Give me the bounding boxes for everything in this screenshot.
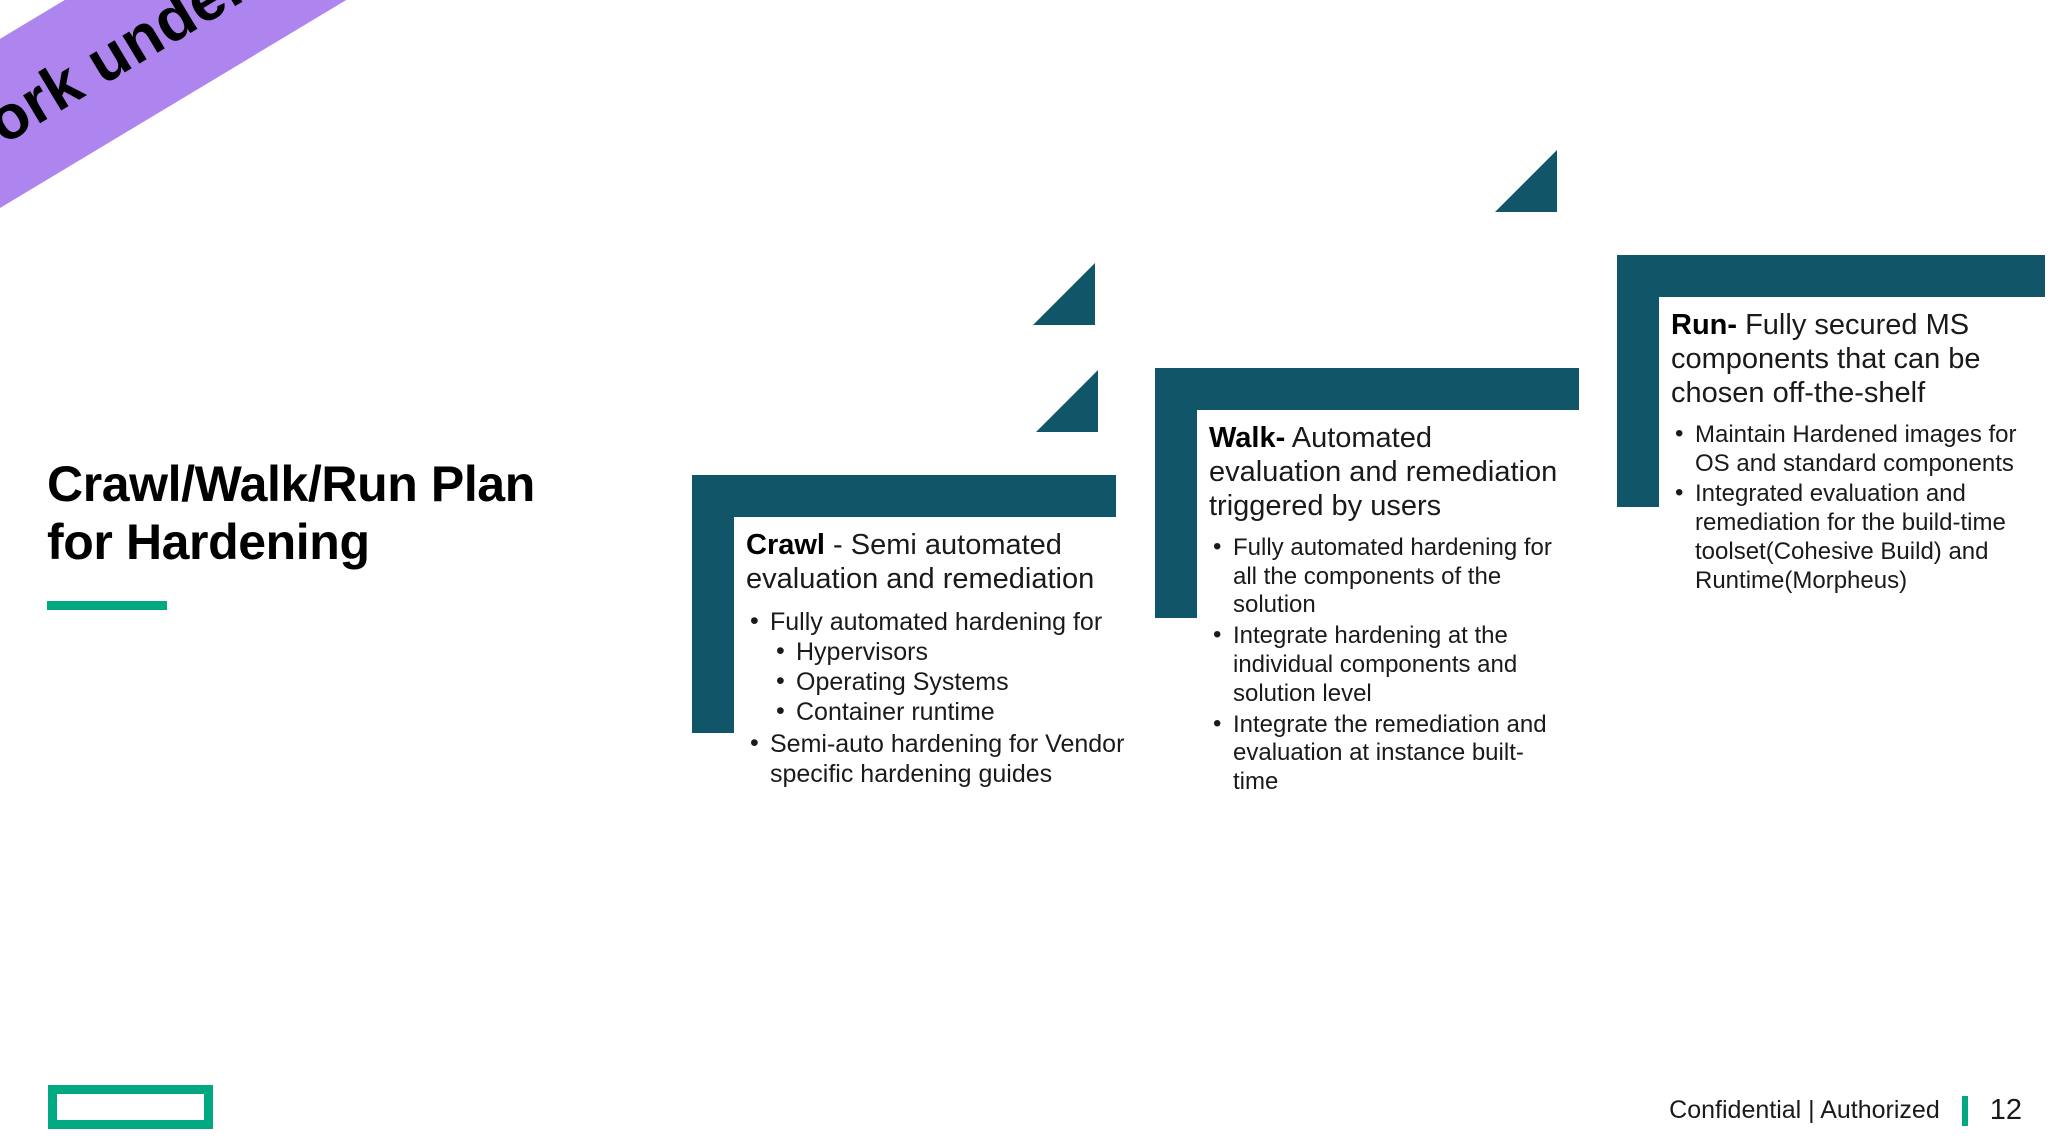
confidentiality-label: Confidential | Authorized xyxy=(1669,1096,1940,1125)
list-item: Integrate the remediation and evaluation… xyxy=(1209,711,1569,797)
bullet-text: Integrate hardening at the individual co… xyxy=(1233,622,1517,707)
footer-right: Confidential | Authorized 12 xyxy=(1669,1094,2022,1127)
bullet-text: Semi-auto hardening for Vendor specific … xyxy=(770,730,1124,788)
stage-heading-run: Run- Fully secured MS components that ca… xyxy=(1671,309,2021,411)
stage-bullet-list-crawl: Fully automated hardening for Hypervisor… xyxy=(746,607,1136,789)
page-title-line1: Crawl/Walk/Run Plan xyxy=(47,456,535,512)
work-under-progress-label: Work under Progress xyxy=(0,0,509,188)
stage-lead-run: Run- xyxy=(1671,309,1737,341)
stage-corner-triangle-run xyxy=(1495,150,1557,212)
stage-top-bar-crawl xyxy=(692,475,1116,517)
sub-bullet-text: Operating Systems xyxy=(796,668,1009,696)
stage-body-walk: Walk- Automated evaluation and remediati… xyxy=(1209,422,1569,799)
list-item: Integrated evaluation and remediation fo… xyxy=(1671,480,2021,595)
list-item: Fully automated hardening for all the co… xyxy=(1209,534,1569,620)
stage-top-bar-run xyxy=(1617,255,2045,297)
title-block: Crawl/Walk/Run Plan for Hardening xyxy=(47,455,687,610)
page-title: Crawl/Walk/Run Plan for Hardening xyxy=(47,455,687,571)
stage-sub-bullet-list-crawl: Hypervisors Operating Systems Container … xyxy=(770,637,1136,727)
stage-corner-triangle-walk xyxy=(1033,263,1095,325)
list-item: Container runtime xyxy=(770,697,1136,727)
list-item: Integrate hardening at the individual co… xyxy=(1209,622,1569,708)
page-title-line2: for Hardening xyxy=(47,514,370,570)
stage-lead-walk: Walk- xyxy=(1209,422,1285,454)
sub-bullet-text: Hypervisors xyxy=(796,638,928,666)
list-item: Operating Systems xyxy=(770,667,1136,697)
stage-body-crawl: Crawl - Semi automated evaluation and re… xyxy=(746,529,1136,791)
stage-left-bar-run xyxy=(1617,255,1659,507)
list-item: Hypervisors xyxy=(770,637,1136,667)
stage-left-bar-crawl xyxy=(692,475,734,733)
bullet-text: Fully automated hardening for xyxy=(770,608,1102,636)
page-number: 12 xyxy=(1990,1094,2022,1127)
stage-heading-walk: Walk- Automated evaluation and remediati… xyxy=(1209,422,1569,524)
stage-left-bar-walk xyxy=(1155,368,1197,618)
sub-bullet-text: Container runtime xyxy=(796,698,995,726)
slide-canvas: Work under Progress Crawl/Walk/Run Plan … xyxy=(0,0,2050,1141)
stage-bullet-list-walk: Fully automated hardening for all the co… xyxy=(1209,534,1569,797)
stage-corner-triangle-crawl xyxy=(1036,370,1098,432)
stage-body-run: Run- Fully secured MS components that ca… xyxy=(1671,309,2021,598)
bullet-text: Integrated evaluation and remediation fo… xyxy=(1695,480,2006,593)
footer-divider xyxy=(1962,1096,1968,1126)
list-item: Semi-auto hardening for Vendor specific … xyxy=(746,729,1136,789)
list-item: Maintain Hardened images for OS and stan… xyxy=(1671,421,2021,479)
stage-heading-crawl: Crawl - Semi automated evaluation and re… xyxy=(746,529,1136,597)
stage-bullet-list-run: Maintain Hardened images for OS and stan… xyxy=(1671,421,2021,596)
work-under-progress-banner: Work under Progress xyxy=(0,0,512,210)
stage-lead-crawl: Crawl xyxy=(746,529,825,561)
stage-top-bar-walk xyxy=(1155,368,1579,410)
bullet-text: Maintain Hardened images for OS and stan… xyxy=(1695,421,2017,477)
hpe-logo xyxy=(48,1085,213,1129)
title-accent-bar xyxy=(47,601,167,610)
bullet-text: Integrate the remediation and evaluation… xyxy=(1233,711,1547,796)
list-item: Fully automated hardening for Hypervisor… xyxy=(746,607,1136,727)
bullet-text: Fully automated hardening for all the co… xyxy=(1233,534,1552,619)
